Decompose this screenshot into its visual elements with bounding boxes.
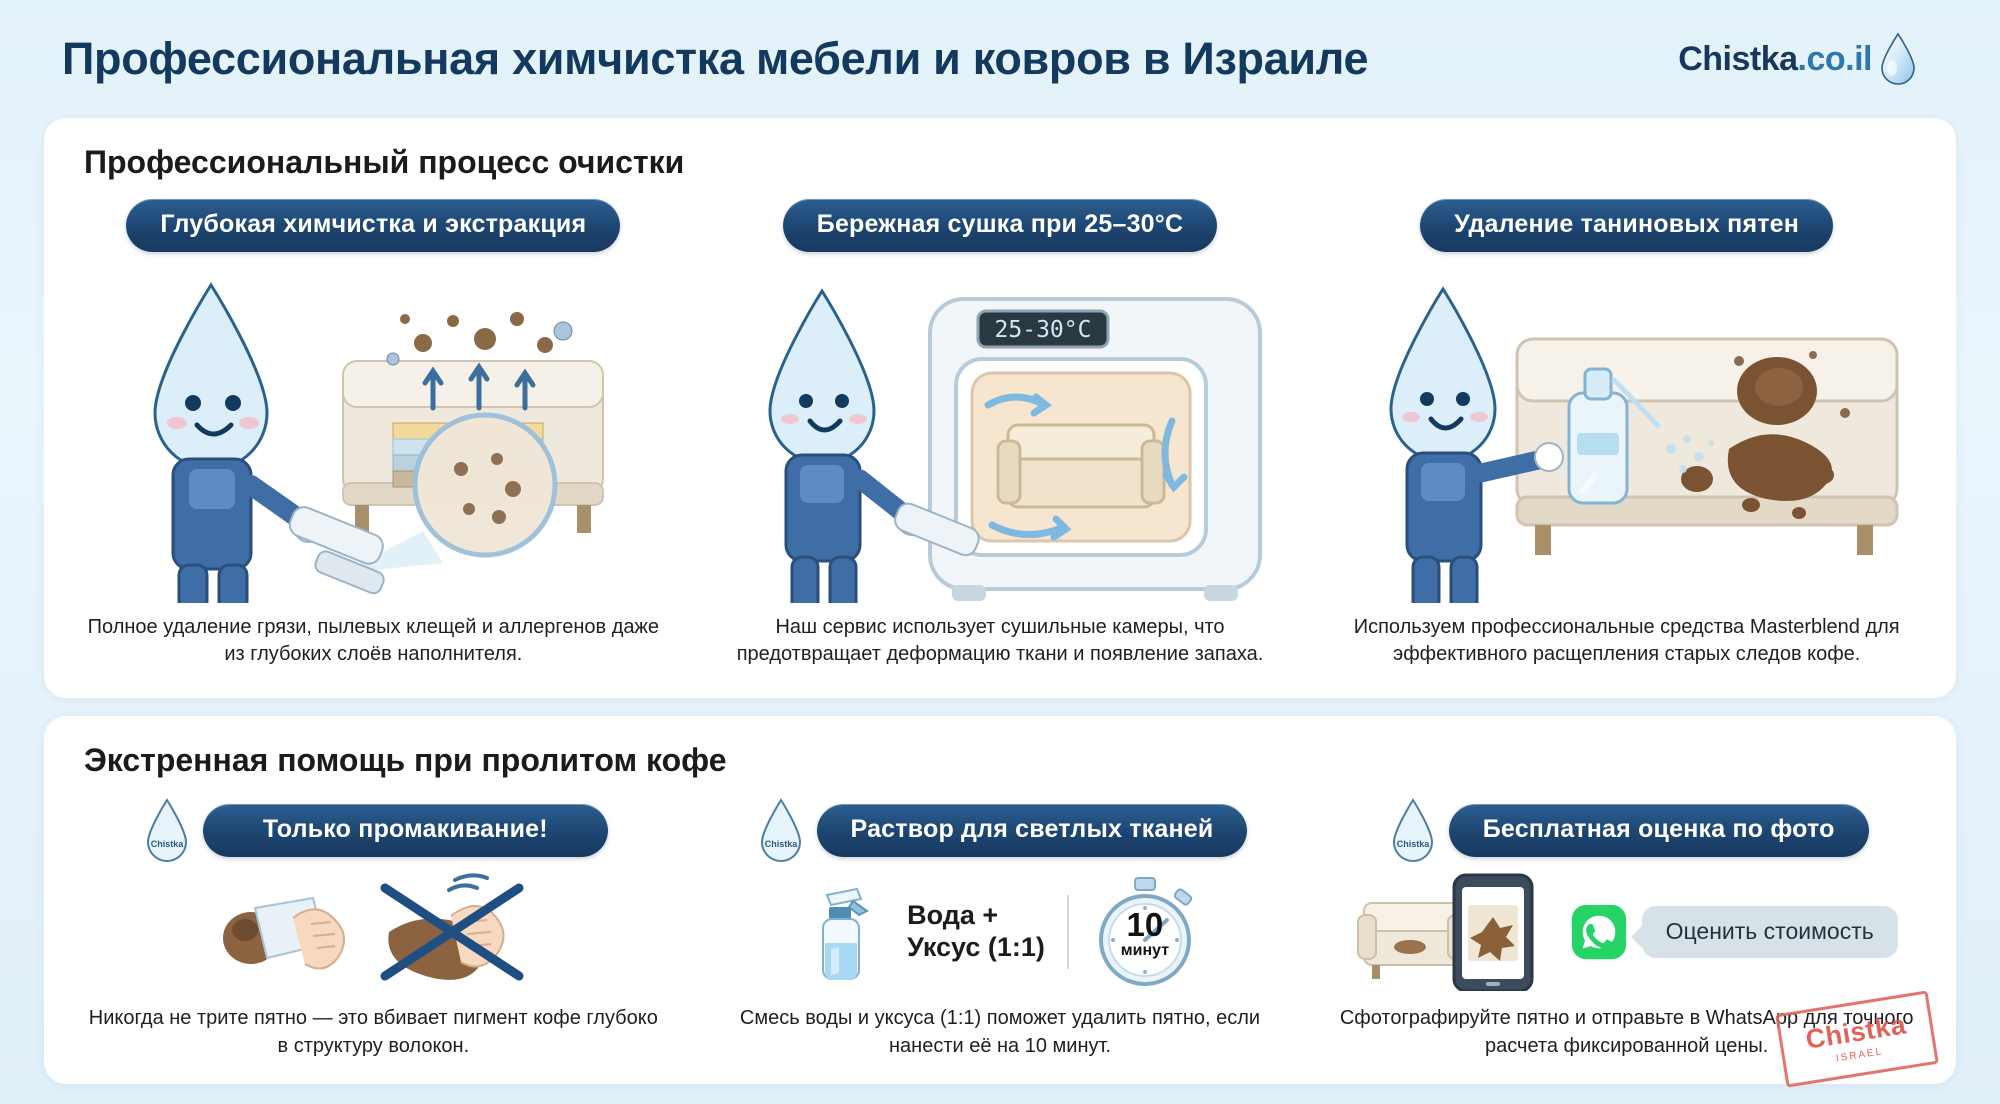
card-caption-free-photo-estimate: Сфотографируйте пятно и отправьте в What… [1323,1005,1930,1060]
card-caption-deep-cleaning: Полное удаление грязи, пылевых клещей и … [70,614,677,669]
chistka-drop-badge-icon: Chistka [141,797,193,863]
stopwatch-value: 10 [1091,906,1199,944]
brand-logo[interactable]: Chistka.co.il [1678,32,1918,86]
svg-text:Chistka: Chistka [151,839,185,849]
card-caption-light-fabric-solution: Смесь воды и уксуса (1:1) поможет удалит… [697,1005,1304,1060]
card-deep-cleaning[interactable]: Глубокая химчистка и экстракция [70,199,677,669]
illustration-gentle-drying: 25-30°C [697,262,1304,614]
blot-vs-rub-icon [193,873,553,991]
card-free-photo-estimate[interactable]: Chistka Бесплатная оценка по фото [1323,797,1930,1047]
solution-line-1: Вода + [907,900,1045,932]
temperature-display: 25-30°C [995,317,1092,343]
sofa-photo-phone-icon [1356,873,1556,991]
card-title-blot-only: Только промакивание! [203,804,608,857]
card-title-light-fabric-solution: Раствор для светлых тканей [817,804,1248,857]
card-caption-blot-only: Никогда не трите пятно — это вбивает пиг… [70,1005,677,1060]
stopwatch: 10 минут [1091,876,1199,988]
estimate-bubble[interactable]: Оценить стоимость [1642,906,1898,958]
svg-text:Chistka: Chistka [1397,839,1431,849]
illustration-tannin-stains [1323,262,1930,614]
chistka-drop-badge-icon: Chistka [1387,797,1439,863]
illustration-photo-estimate: Оценить стоимость [1323,873,1930,991]
svg-text:Chistka: Chistka [764,839,798,849]
chistka-drop-badge-icon: Chistka [755,797,807,863]
card-blot-only[interactable]: Chistka Только промакивание! [70,797,677,1047]
drying-chamber-icon: 25-30°C [720,273,1280,603]
card-header-row: Chistka Только промакивание! [70,797,677,863]
card-header-row: Chistka Бесплатная оценка по фото [1323,797,1930,863]
card-title-deep-cleaning: Глубокая химчистка и экстракция [126,199,620,252]
mascot-vacuuming-sofa-icon [93,273,653,603]
card-gentle-drying[interactable]: Бережная сушка при 25–30°C 25-30°C [697,199,1304,669]
card-caption-gentle-drying: Наш сервис использует сушильные камеры, … [697,614,1304,669]
process-card-row: Глубокая химчистка и экстракция [70,199,1930,669]
card-header-row: Глубокая химчистка и экстракция [70,199,677,252]
card-title-free-photo-estimate: Бесплатная оценка по фото [1449,804,1869,857]
card-caption-tannin-stains: Используем профессиональные средства Mas… [1323,614,1930,669]
water-drop-icon [1878,32,1918,86]
page-header: Профессиональная химчистка мебели и ковр… [0,0,2000,118]
emergency-card-row: Chistka Только промакивание! [70,797,1930,1047]
solution-line-2: Уксус (1:1) [907,932,1045,964]
section-title-emergency: Экстренная помощь при пролитом кофе [84,742,1930,779]
card-tannin-stains[interactable]: Удаление таниновых пятен [1323,199,1930,669]
vertical-divider [1067,895,1069,969]
spraying-stain-icon [1347,273,1907,603]
card-header-row: Chistka Раствор для светлых тканей [697,797,1304,863]
section-emergency: Экстренная помощь при пролитом кофе Chis… [44,716,1956,1084]
illustration-blot-only [70,873,677,991]
illustration-deep-cleaning [70,262,677,614]
card-title-tannin-stains: Удаление таниновых пятен [1420,199,1833,252]
spray-bottle-icon [801,877,885,987]
card-title-gentle-drying: Бережная сушка при 25–30°C [783,199,1217,252]
illustration-solution: Вода + Уксус (1:1) [697,873,1304,991]
card-header-row: Бережная сушка при 25–30°C [697,199,1304,252]
brand-logo-tld: .co.il [1798,40,1872,78]
section-process: Профессиональный процесс очистки Глубока… [44,118,1956,698]
brand-logo-text: Chistka.co.il [1678,40,1872,79]
card-header-row: Удаление таниновых пятен [1323,199,1930,252]
card-light-fabric-solution[interactable]: Chistka Раствор для светлых тканей Вод [697,797,1304,1047]
infographic-page: Профессиональная химчистка мебели и ковр… [0,0,2000,1104]
solution-label: Вода + Уксус (1:1) [907,900,1045,964]
section-title-process: Профессиональный процесс очистки [84,144,1930,181]
brand-logo-name: Chistka [1678,40,1797,78]
whatsapp-icon[interactable] [1570,903,1628,961]
stopwatch-unit: минут [1091,942,1199,960]
page-title: Профессиональная химчистка мебели и ковр… [62,33,1368,85]
